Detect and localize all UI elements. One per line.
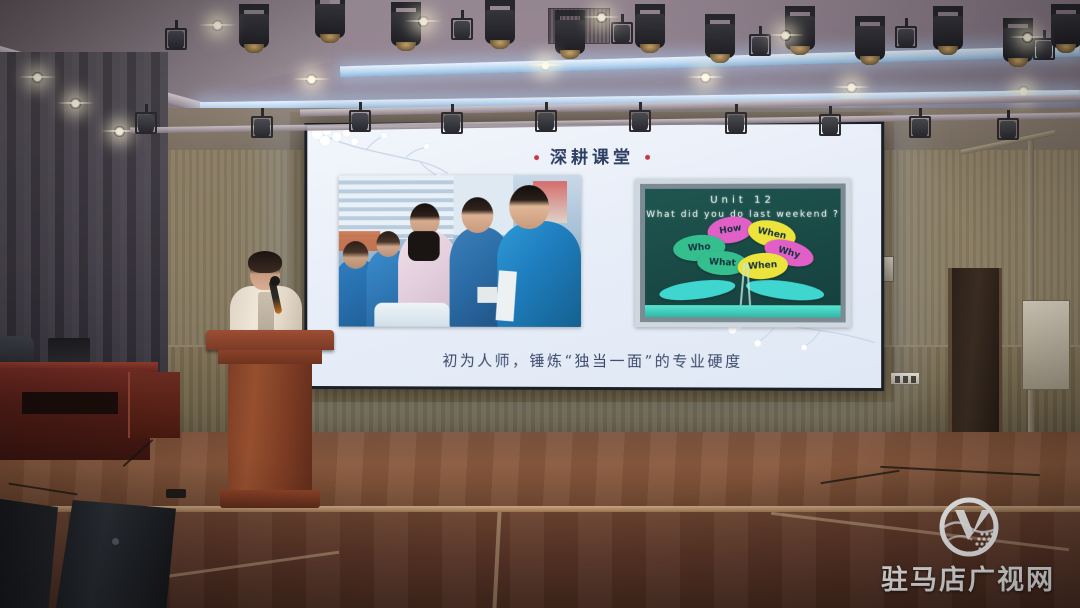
slide-surface: 深耕课堂 bbox=[307, 124, 881, 388]
floor-monitor-speaker-left bbox=[0, 496, 58, 608]
blackboard-frame: Unit 12 What did you do last weekend ? H… bbox=[640, 184, 846, 323]
par-can-body bbox=[898, 29, 914, 48]
projection-screen[interactable]: 深耕课堂 bbox=[304, 121, 884, 391]
microphone-capsule bbox=[270, 276, 280, 286]
par-can-body bbox=[138, 115, 154, 134]
photo-student-blue-front-head bbox=[509, 185, 549, 229]
par-can-body bbox=[752, 37, 768, 56]
moving-head-body bbox=[315, 4, 345, 38]
presenter-hair bbox=[248, 251, 282, 273]
moving-head-body bbox=[635, 14, 665, 48]
photo-paper-sheet bbox=[496, 270, 517, 321]
floor-cable-connector bbox=[166, 489, 186, 498]
stage-floor bbox=[0, 432, 1080, 512]
slide-title: 深耕课堂 bbox=[307, 142, 881, 169]
ceiling-spot-1 bbox=[32, 72, 43, 83]
par-can-body bbox=[168, 31, 184, 50]
ceiling-downlight-5 bbox=[1022, 32, 1033, 43]
photo-scarf-dark bbox=[408, 231, 440, 261]
title-dot-left bbox=[534, 155, 539, 160]
floor-monitor-speaker bbox=[56, 500, 176, 608]
slide-photo-classroom bbox=[339, 175, 581, 327]
moving-head-body bbox=[1051, 14, 1080, 48]
photo-student-bg-2-head bbox=[376, 231, 400, 257]
title-dot-right bbox=[645, 154, 650, 159]
moving-head-body bbox=[705, 24, 735, 58]
stage-curtain bbox=[0, 52, 168, 372]
side-door[interactable] bbox=[948, 268, 1002, 440]
control-table-shadow bbox=[22, 392, 118, 414]
blackboard-leaf-leaf bbox=[745, 276, 825, 304]
par-can-body bbox=[728, 115, 744, 134]
par-can-body bbox=[614, 25, 630, 44]
ceiling-downlight-3 bbox=[596, 12, 607, 23]
podium-base bbox=[220, 490, 320, 508]
photo-student-blue-mid-head bbox=[462, 197, 494, 233]
podium bbox=[206, 330, 334, 508]
par-can-body bbox=[538, 113, 554, 132]
par-can-body bbox=[822, 117, 838, 136]
photo-student-bg-1-head bbox=[343, 241, 369, 269]
par-can-body bbox=[444, 115, 460, 134]
electrical-panel bbox=[1022, 300, 1070, 390]
par-can-body bbox=[352, 113, 368, 132]
ceiling-downlight-8 bbox=[700, 72, 711, 83]
podium-neck bbox=[218, 350, 322, 364]
moving-head-body bbox=[555, 20, 585, 54]
slide-title-text: 深耕课堂 bbox=[550, 148, 634, 168]
par-can-body bbox=[1036, 41, 1052, 60]
ceiling-downlight-4 bbox=[780, 30, 791, 41]
par-can-body bbox=[1000, 121, 1016, 140]
moving-head-body bbox=[239, 14, 269, 48]
moving-head-body bbox=[855, 26, 885, 60]
ceiling-downlight-1 bbox=[212, 20, 223, 31]
moving-head-body bbox=[933, 16, 963, 50]
wall-pipe bbox=[1028, 138, 1034, 438]
par-can-body bbox=[254, 119, 270, 138]
ceiling-spot-2 bbox=[70, 98, 81, 109]
blackboard-leaf-leaf bbox=[658, 277, 736, 304]
ceiling-downlight-6 bbox=[306, 74, 317, 85]
ceiling-downlight-9 bbox=[846, 82, 857, 93]
podium-body bbox=[228, 364, 312, 490]
blackboard-unit-heading: Unit 12 bbox=[645, 195, 841, 206]
moving-head-body bbox=[485, 10, 515, 44]
par-can-body bbox=[632, 113, 648, 132]
side-cabinet bbox=[128, 372, 180, 438]
ceiling-downlight-7 bbox=[540, 60, 551, 71]
slide-caption: 初为人师，锤炼“独当一面”的专业硬度 bbox=[307, 349, 881, 372]
blackboard-surface: Unit 12 What did you do last weekend ? H… bbox=[645, 189, 841, 318]
moving-head-body bbox=[391, 12, 421, 46]
screenshot-root: 深耕课堂 bbox=[0, 0, 1080, 608]
blackboard-chalk-tray bbox=[645, 305, 841, 317]
ceiling-spot-3 bbox=[114, 126, 125, 137]
par-can-body bbox=[912, 119, 928, 138]
slide-photo-blackboard: Unit 12 What did you do last weekend ? H… bbox=[635, 178, 851, 327]
photo-paper-sheet-2 bbox=[477, 287, 497, 303]
podium-top bbox=[206, 330, 334, 350]
photo-white-cloth bbox=[374, 303, 449, 327]
par-can-body bbox=[454, 21, 470, 40]
ceiling-downlight-2 bbox=[418, 16, 429, 27]
